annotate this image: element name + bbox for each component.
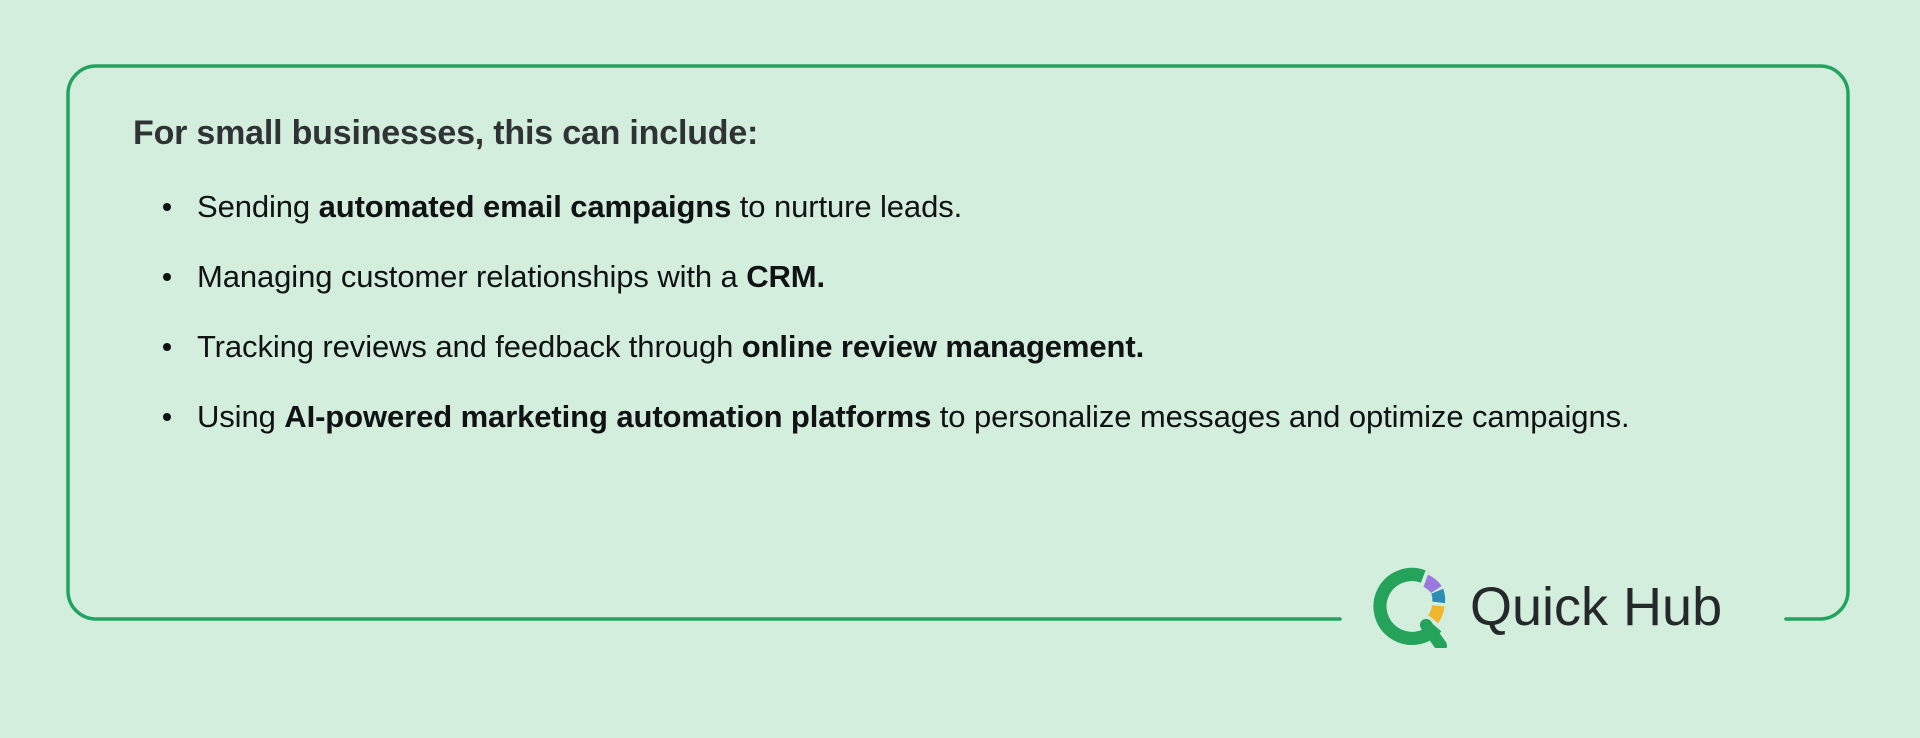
list-item-text: Using bbox=[197, 399, 284, 434]
list-item-text: Managing customer relationships with a bbox=[197, 259, 746, 294]
list-item-text: to personalize messages and optimize cam… bbox=[931, 399, 1629, 434]
page-title: For small businesses, this can include: bbox=[133, 112, 1793, 155]
list-item-emphasis: automated email campaigns bbox=[319, 189, 732, 224]
list-item-emphasis: online review management. bbox=[742, 329, 1144, 364]
list-item: Managing customer relationships with a C… bbox=[133, 253, 1793, 300]
bullet-dot-icon bbox=[163, 273, 171, 281]
bullet-list: Sending automated email campaigns to nur… bbox=[133, 183, 1793, 440]
slide-canvas: For small businesses, this can include: … bbox=[0, 0, 1920, 738]
list-item-emphasis: AI-powered marketing automation platform… bbox=[284, 399, 931, 434]
brand-lockup: Quick Hub bbox=[1372, 566, 1722, 648]
bullet-dot-icon bbox=[163, 413, 171, 421]
quick-hub-ring-icon bbox=[1372, 566, 1454, 648]
bullet-dot-icon bbox=[163, 343, 171, 351]
card-content: For small businesses, this can include: … bbox=[133, 112, 1793, 440]
list-item: Sending automated email campaigns to nur… bbox=[133, 183, 1793, 230]
brand-wordmark: Quick Hub bbox=[1470, 580, 1722, 634]
list-item: Tracking reviews and feedback through on… bbox=[133, 323, 1793, 370]
list-item-emphasis: CRM. bbox=[746, 259, 825, 294]
list-item-text: Tracking reviews and feedback through bbox=[197, 329, 742, 364]
list-item-text: to nurture leads. bbox=[731, 189, 962, 224]
bullet-dot-icon bbox=[163, 203, 171, 211]
list-item-text: Sending bbox=[197, 189, 319, 224]
list-item: Using AI-powered marketing automation pl… bbox=[133, 393, 1793, 440]
